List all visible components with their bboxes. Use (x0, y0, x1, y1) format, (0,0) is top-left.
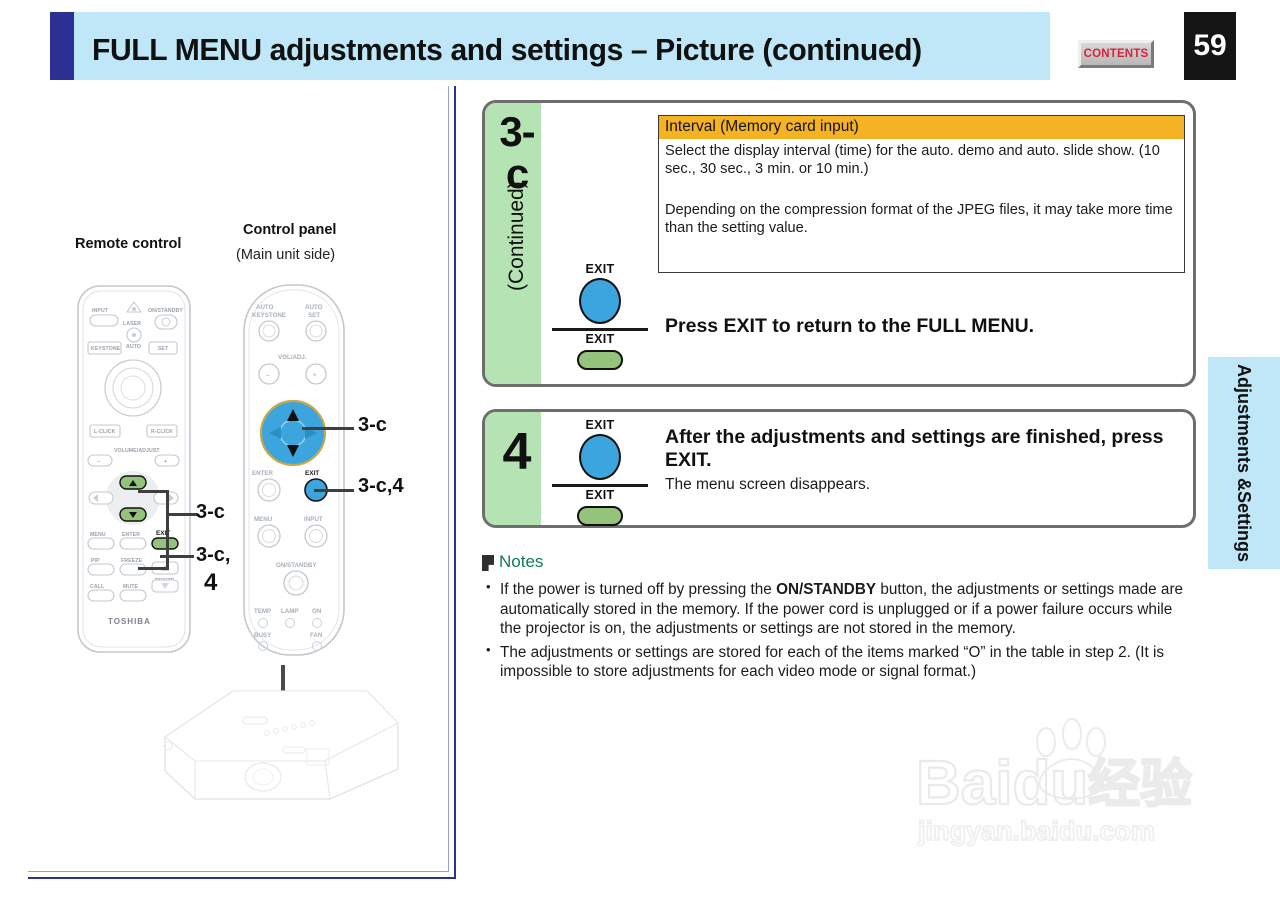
exit-button-panel-icon[interactable] (579, 278, 621, 324)
svg-text:KEYSTONE: KEYSTONE (252, 312, 286, 319)
note-item: The adjustments or settings are stored f… (482, 643, 1194, 682)
svg-text:LASER: LASER (123, 321, 141, 327)
svg-text:PIP: PIP (91, 558, 100, 564)
watermark-brand-cn: 经验 (1088, 755, 1192, 815)
exit-button-remote-icon[interactable] (577, 350, 623, 370)
svg-text:ON/STANDBY: ON/STANDBY (276, 562, 317, 569)
watermark-url: jingyan.baidu.com (917, 816, 1155, 846)
svg-text:MENU: MENU (90, 532, 106, 538)
leader-line (138, 567, 168, 570)
contents-button-label: CONTENTS (1084, 48, 1149, 60)
svg-text:+: + (164, 459, 167, 465)
page-number-box: 59 (1184, 12, 1236, 80)
header-accent-bar (50, 12, 74, 80)
svg-text:ENTER: ENTER (252, 470, 274, 477)
step-4-subtext: The menu screen disappears. (665, 476, 870, 494)
svg-text:LAMP: LAMP (281, 608, 299, 615)
svg-text:INPUT: INPUT (92, 308, 109, 314)
svg-text:KEYSTONE: KEYSTONE (91, 346, 121, 352)
control-panel-caption: Control panel (243, 222, 336, 238)
svg-text:TOSHIBA: TOSHIBA (108, 617, 151, 626)
notes-title: Notes (499, 552, 543, 572)
svg-text:SET: SET (308, 312, 320, 319)
exit-label-top: EXIT (552, 262, 648, 276)
interval-info-title: Interval (Memory card input) (659, 116, 1184, 139)
callout-panel-exit: 3-c,4 (358, 477, 404, 496)
callout-remote-exit-line1: 3-c, (196, 546, 230, 565)
exit-label-bottom: EXIT (552, 332, 648, 346)
svg-text:BUSY: BUSY (254, 632, 272, 639)
leader-line (302, 427, 354, 430)
contents-button[interactable]: CONTENTS (1078, 40, 1154, 68)
projector-illustration (155, 665, 405, 810)
glyph-divider (552, 484, 648, 487)
svg-text:–: – (97, 459, 100, 465)
svg-text:SET: SET (158, 346, 169, 352)
control-panel-illustration: AUTO KEYSTONE AUTO SET VOL/ADJ. – + ENTE… (238, 275, 350, 675)
section-side-tab: Adjustments & Settings (1208, 357, 1280, 569)
exit-button-panel-icon[interactable] (579, 434, 621, 480)
section-side-tab-label: Adjustments & Settings (1208, 357, 1280, 569)
note-flag-icon (482, 555, 494, 571)
svg-text:CALL: CALL (90, 584, 105, 590)
leader-line (166, 513, 198, 516)
callout-panel-pad: 3-c (358, 416, 387, 435)
step-number-4: 4 (491, 426, 543, 478)
notes-header: Notes (482, 552, 1194, 576)
svg-text:ENTER: ENTER (122, 532, 140, 538)
svg-text:MUTE: MUTE (123, 584, 139, 590)
leader-line (314, 489, 354, 492)
svg-text:R-CLICK: R-CLICK (151, 429, 173, 435)
svg-text:VOL/ADJ.: VOL/ADJ. (278, 354, 307, 361)
leader-line (138, 490, 168, 493)
interval-info-box: Interval (Memory card input) Select the … (658, 115, 1185, 273)
exit-label-top: EXIT (552, 418, 648, 432)
svg-text:FREEZE: FREEZE (121, 558, 143, 564)
leader-line (160, 555, 194, 558)
interval-info-paragraph-2: Depending on the compression format of t… (665, 202, 1177, 238)
exit-button-remote-icon[interactable] (577, 506, 623, 526)
side-tab-line1: Adjustments & (1235, 364, 1253, 491)
svg-text:ON: ON (312, 608, 322, 615)
interval-info-paragraph-1: Select the display interval (time) for t… (665, 143, 1177, 179)
remote-control-caption: Remote control (75, 236, 181, 252)
svg-text:AUTO: AUTO (256, 304, 274, 311)
glyph-divider (552, 328, 648, 331)
svg-text:VOLUME/ADJUST: VOLUME/ADJUST (114, 448, 160, 454)
watermark-brand: Baidu (916, 749, 1088, 818)
svg-text:MENU: MENU (254, 516, 273, 523)
svg-text:ON/STANDBY: ON/STANDBY (148, 308, 183, 314)
page-header: FULL MENU adjustments and settings – Pic… (50, 12, 1050, 80)
step-3c-instruction: Press EXIT to return to the FULL MENU. (665, 315, 1185, 338)
step-continued-label: (Continued) (505, 239, 529, 291)
svg-text:AUTO: AUTO (126, 344, 141, 350)
svg-text:L-CLICK: L-CLICK (94, 429, 116, 435)
note-item: If the power is turned off by pressing t… (482, 580, 1194, 639)
control-panel-caption-sub: (Main unit side) (236, 247, 335, 263)
callout-remote-arrows: 3-c (196, 503, 225, 522)
side-tab-line2: Settings (1235, 491, 1253, 562)
remote-control-illustration: INPUT LASER ON/STANDBY KEYSTONE AUTO SET… (70, 280, 200, 660)
step-4-heading: After the adjustments and settings are f… (665, 426, 1189, 472)
leader-line (166, 490, 169, 570)
baidu-watermark: Baidu 经验 jingyan.baidu.com (910, 718, 1230, 848)
svg-text:TEMP: TEMP (254, 608, 271, 615)
page-number: 59 (1193, 29, 1226, 63)
page-title: FULL MENU adjustments and settings – Pic… (92, 32, 1004, 68)
svg-text:–: – (266, 372, 270, 379)
svg-text:AUTO: AUTO (305, 304, 323, 311)
notes-section: Notes If the power is turned off by pres… (482, 552, 1194, 682)
svg-text:FAN: FAN (310, 632, 323, 639)
callout-remote-exit-line2: 4 (204, 572, 217, 595)
svg-text:+: + (313, 372, 317, 379)
svg-text:INPUT: INPUT (304, 516, 323, 523)
exit-label-bottom: EXIT (552, 488, 648, 502)
svg-text:EXIT: EXIT (305, 470, 319, 477)
